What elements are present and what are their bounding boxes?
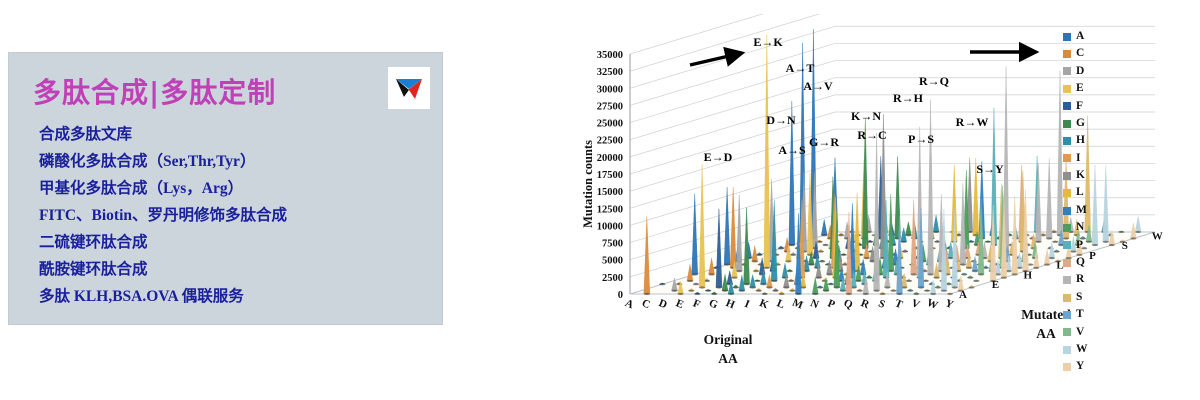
bar-base-marker (790, 254, 796, 256)
legend-item-I[interactable]: I (1063, 150, 1111, 167)
bar-base-marker (1046, 237, 1052, 239)
chart-annotations: E→KA→TA→VR→QR→HD→NK→NR→WG→RR→CP→SA→SE→DS… (704, 35, 1004, 176)
y-tick-label: 32500 (597, 67, 623, 78)
bar-base-marker (789, 290, 795, 292)
x-tick-label: S (877, 298, 887, 311)
bar-base-marker (766, 286, 772, 288)
bar-base-marker (1135, 231, 1141, 233)
bar-base-marker (941, 290, 947, 292)
z-tick-label: H (1023, 269, 1032, 281)
bar-base-marker (911, 273, 917, 275)
bar-base-marker (754, 280, 760, 282)
bar-base-marker (716, 286, 722, 288)
legend-label: F (1076, 101, 1083, 113)
annotation-label: R→C (857, 128, 886, 142)
legend-label: H (1076, 135, 1085, 147)
x-tick-label: N (808, 297, 820, 311)
company-logo (388, 67, 430, 109)
bar-base-marker (826, 273, 832, 275)
promo-panel: 多肽合成|多肽定制 合成多肽文库 磷酸化多肽合成（Ser,Thr,Tyr） 甲基… (8, 52, 443, 325)
chart-trend-arrows (690, 52, 1036, 65)
legend-swatch-icon (1063, 189, 1071, 197)
bar-base-marker (773, 290, 779, 292)
bar-base-marker (753, 270, 759, 272)
legend-item-L[interactable]: L (1063, 185, 1111, 202)
bar-base-marker (1035, 241, 1041, 243)
annotation-label: A→S (778, 143, 806, 157)
legend-swatch-icon (1063, 172, 1071, 180)
bar-base-marker (918, 286, 924, 288)
list-item: 磷酸化多肽合成（Ser,Thr,Tyr） (39, 148, 439, 175)
bar-base-marker (699, 286, 705, 288)
legend-swatch-icon (1063, 328, 1071, 336)
z-tick-label: A (959, 289, 967, 301)
bar-base-marker (778, 247, 784, 249)
y-axis-title-group: Mutation counts (581, 140, 595, 228)
bar-base-marker (1130, 237, 1136, 239)
annotation-label: R→W (956, 115, 989, 129)
bar-base-marker (901, 241, 907, 243)
bar-base-marker (692, 273, 698, 275)
legend-swatch-icon (1063, 137, 1071, 145)
bar-base-marker (973, 280, 979, 282)
promo-title: 多肽合成|多肽定制 (33, 71, 276, 111)
bar-base-marker (928, 273, 934, 275)
legend-label: I (1076, 153, 1080, 165)
legend-swatch-icon (1063, 241, 1071, 249)
bar-base-marker (1044, 264, 1050, 266)
legend-label: G (1076, 118, 1085, 130)
bar-base-marker (866, 277, 872, 279)
bar-column (933, 215, 939, 232)
x-tick-label: Q (842, 297, 855, 311)
bar-base-marker (783, 286, 789, 288)
annotation-label: R→H (893, 91, 924, 105)
legend-label: V (1076, 327, 1084, 339)
page-root: 多肽合成|多肽定制 合成多肽文库 磷酸化多肽合成（Ser,Thr,Tyr） 甲基… (0, 0, 1200, 400)
x-tick-label: C (640, 297, 652, 311)
list-item: FITC、Biotin、罗丹明修饰多肽合成 (39, 202, 439, 229)
bar-base-marker (821, 234, 827, 236)
legend-item-F[interactable]: F (1063, 98, 1111, 115)
y-tick-label: 5000 (602, 256, 623, 267)
annotation-label: A→V (803, 79, 833, 93)
bar-base-marker (846, 293, 852, 295)
bar-base-marker (644, 293, 650, 295)
y-axis-title: Mutation counts (581, 140, 595, 228)
bar-base-marker (736, 270, 742, 272)
annotation-label: E→D (704, 150, 733, 164)
legend-label: S (1076, 292, 1082, 304)
legend-swatch-icon (1063, 67, 1071, 75)
x-tick-label: E (674, 297, 685, 311)
bar-base-marker (818, 250, 824, 252)
trend-arrow-left (690, 53, 742, 65)
bar-base-marker (952, 286, 958, 288)
legend-label: D (1076, 66, 1084, 78)
legend-swatch-icon (1063, 224, 1071, 232)
logo-chevron-icon (391, 70, 427, 106)
x-tick-label: L (775, 297, 786, 311)
x-tick-label: K (758, 297, 771, 311)
z-tick-label: S (1122, 240, 1128, 252)
bar-base-marker (978, 273, 984, 275)
bar-base-marker (828, 283, 834, 285)
bar-base-marker (739, 290, 745, 292)
legend-item-S[interactable]: S (1063, 289, 1111, 306)
bar-base-marker (902, 250, 908, 252)
bar-base-marker (924, 290, 930, 292)
bar-column (752, 246, 758, 262)
annotation-label: E→K (753, 35, 783, 49)
bar-base-marker (817, 286, 823, 288)
legend-item-K[interactable]: K (1063, 167, 1111, 184)
y-tick-label: 0 (618, 290, 623, 301)
legend-label: E (1076, 83, 1084, 95)
x-tick-label: V (910, 297, 922, 311)
bar-base-marker (823, 244, 829, 246)
bar-base-marker (728, 293, 734, 295)
legend-label: K (1076, 170, 1085, 182)
bar-base-marker (838, 234, 844, 236)
annotation-label: D→N (766, 113, 796, 127)
legend-swatch-icon (1063, 363, 1071, 371)
legend-label: R (1076, 274, 1084, 286)
bar-base-marker (880, 293, 886, 295)
y-tick-label: 17500 (597, 170, 623, 181)
legend-label: C (1076, 48, 1084, 60)
bar-base-marker (659, 283, 665, 285)
legend-swatch-icon (1063, 311, 1071, 319)
bar-base-marker (961, 273, 967, 275)
bar-base-marker (744, 283, 750, 285)
list-item: 二硫键环肽合成 (39, 229, 439, 256)
x-axis-title-line2: AA (718, 351, 738, 366)
legend-swatch-icon (1063, 33, 1071, 41)
bar-base-marker (935, 286, 941, 288)
x-tick-label: P (826, 297, 837, 311)
legend-label: Y (1076, 361, 1084, 373)
bar-column (716, 209, 722, 288)
legend-swatch-icon (1063, 102, 1071, 110)
bar-base-marker (671, 290, 677, 292)
bar-base-marker (934, 277, 940, 279)
bar-base-marker (823, 290, 829, 292)
bar-base-marker (841, 254, 847, 256)
y-tick-label: 35000 (597, 50, 623, 61)
legend-swatch-icon (1063, 50, 1071, 58)
bar-column (905, 222, 911, 235)
y-tick-label: 10000 (597, 221, 623, 232)
legend-swatch-icon (1063, 259, 1071, 267)
bar-base-marker (731, 277, 737, 279)
bar-base-marker (896, 293, 902, 295)
bar-base-marker (711, 293, 717, 295)
x-tick-label: W (925, 297, 940, 312)
bar-base-marker (834, 286, 840, 288)
x-axis-title-line1: Original (704, 332, 753, 347)
x-tick-label: R (859, 297, 872, 311)
bar-column (736, 195, 742, 271)
bar-base-marker (756, 254, 762, 256)
bar-base-marker (819, 260, 825, 262)
bar-column (699, 164, 705, 287)
bar-column (928, 100, 934, 275)
legend-label: M (1076, 205, 1087, 217)
bar-base-marker (808, 264, 814, 266)
x-tick-label: M (790, 297, 805, 312)
bar-column (1046, 158, 1052, 238)
bar-column (724, 187, 730, 264)
legend-item-R[interactable]: R (1063, 271, 1111, 288)
bar-base-marker (709, 273, 715, 275)
legend-item-H[interactable]: H (1063, 132, 1111, 149)
legend-swatch-icon (1063, 276, 1071, 284)
legend-item-Q[interactable]: Q (1063, 254, 1111, 271)
bar-base-marker (890, 290, 896, 292)
list-item: 多肽 KLH,BSA.OVA 偶联服务 (39, 283, 439, 310)
bar-base-marker (972, 270, 978, 272)
bar-base-marker (789, 244, 795, 246)
bar-base-marker (752, 260, 758, 262)
legend-swatch-icon (1063, 294, 1071, 302)
bar-base-marker (1033, 267, 1039, 269)
bar-base-marker (688, 290, 694, 292)
bar-base-marker (756, 290, 762, 292)
legend-item-G[interactable]: G (1063, 115, 1111, 132)
bar-base-marker (906, 280, 912, 282)
bar-base-marker (933, 231, 939, 233)
legend-item-T[interactable]: T (1063, 306, 1111, 323)
bar-base-marker (960, 264, 966, 266)
y-tick-label: 27500 (597, 101, 623, 112)
bar-base-marker (864, 257, 870, 259)
legend-item-V[interactable]: V (1063, 324, 1111, 341)
promo-service-list: 合成多肽文库 磷酸化多肽合成（Ser,Thr,Tyr） 甲基化多肽合成（Lys，… (39, 121, 439, 310)
bar-base-marker (884, 286, 890, 288)
list-item: 合成多肽文库 (39, 121, 439, 148)
legend-label: T (1076, 309, 1084, 321)
legend-label: Q (1076, 257, 1085, 269)
x-tick-label: I (743, 298, 751, 311)
x-tick-label: A (623, 297, 635, 311)
bar-base-marker (816, 277, 822, 279)
bar-column (821, 219, 827, 235)
bar-base-marker (771, 280, 777, 282)
bar-base-marker (722, 290, 728, 292)
bar-base-marker (1118, 231, 1124, 233)
bar-base-marker (787, 270, 793, 272)
legend-item-Y[interactable]: Y (1063, 358, 1111, 375)
bar-base-marker (694, 293, 700, 295)
y-tick-label: 22500 (597, 136, 623, 147)
annotation-label: S→Y (976, 162, 1004, 176)
legend-item-M[interactable]: M (1063, 202, 1111, 219)
x-tick-label: D (657, 297, 669, 311)
bar-base-marker (779, 293, 785, 295)
legend-label: L (1076, 187, 1084, 199)
bar-base-marker (913, 293, 919, 295)
legend-swatch-icon (1063, 85, 1071, 93)
legend-item-N[interactable]: N (1063, 219, 1111, 236)
bar-base-marker (947, 293, 953, 295)
x-axis-tick-labels: ACDEFGHIKLMNPQRSTVWY (623, 297, 955, 312)
legend-label: A (1076, 31, 1084, 43)
bar-base-marker (750, 286, 756, 288)
bar-base-marker (840, 290, 846, 292)
x-tick-label: G (707, 297, 720, 311)
bar-base-marker (857, 290, 863, 292)
bar-base-marker (812, 293, 818, 295)
legend-swatch-icon (1063, 346, 1071, 354)
legend-item-A[interactable]: A (1063, 28, 1111, 45)
bar-base-marker (705, 290, 711, 292)
x-tick-label: Y (943, 297, 955, 311)
x-tick-label: H (724, 297, 737, 311)
bar-base-marker (788, 280, 794, 282)
bar-base-marker (855, 280, 861, 282)
bar-base-marker (1054, 250, 1060, 252)
bar-base-marker (760, 283, 766, 285)
bar-base-marker (966, 267, 972, 269)
bar-base-marker (693, 283, 699, 285)
annotation-label: R→Q (919, 74, 949, 88)
bar-base-marker (905, 234, 911, 236)
bar-base-marker (724, 264, 730, 266)
y-axis-tick-labels: 0250050007500100001250015000175002000022… (597, 50, 623, 301)
z-axis-title-line2: AA (1036, 326, 1056, 341)
legend-label: P (1076, 240, 1083, 252)
bar-base-marker (967, 277, 973, 279)
bar-base-marker (733, 286, 739, 288)
annotation-label: P→S (908, 132, 934, 146)
axis-titles: OriginalAAMutatedAA (704, 307, 1072, 366)
y-tick-label: 25000 (597, 119, 623, 130)
y-tick-label: 7500 (602, 239, 623, 250)
y-tick-label: 15000 (597, 187, 623, 198)
list-item: 酰胺键环肽合成 (39, 256, 439, 283)
bar-base-marker (1049, 257, 1055, 259)
bar-base-marker (1012, 273, 1018, 275)
list-item: 甲基化多肽合成（Lys，Arg） (39, 175, 439, 202)
bar-base-marker (1052, 241, 1058, 243)
bar-column (764, 35, 770, 268)
bar-base-marker (687, 280, 693, 282)
legend-label: W (1076, 344, 1088, 356)
bar-base-marker (907, 290, 913, 292)
gridline-left-wall (630, 14, 835, 54)
legend-item-P[interactable]: P (1063, 237, 1111, 254)
y-tick-label: 2500 (602, 273, 623, 284)
z-tick-label: E (992, 279, 999, 291)
annotation-label: A→T (786, 61, 815, 75)
bar-column (1135, 216, 1141, 232)
bar-column (692, 194, 698, 275)
legend-label: N (1076, 222, 1084, 234)
bar-base-marker (762, 293, 768, 295)
legend-item-C[interactable]: C (1063, 45, 1111, 62)
y-tick-label: 30000 (597, 84, 623, 95)
annotation-label: K→N (851, 109, 881, 123)
z-tick-label: W (1152, 230, 1163, 242)
legend-swatch-icon (1063, 120, 1071, 128)
bar-base-marker (678, 293, 684, 295)
bar-base-marker (764, 267, 770, 269)
legend-item-E[interactable]: E (1063, 80, 1111, 97)
legend-item-W[interactable]: W (1063, 341, 1111, 358)
legend-swatch-icon (1063, 207, 1071, 215)
x-tick-label: T (893, 297, 905, 311)
y-tick-label: 20000 (597, 153, 623, 164)
bar-base-marker (795, 293, 801, 295)
x-tick-label: F (691, 297, 702, 311)
legend-item-D[interactable]: D (1063, 63, 1111, 80)
legend-swatch-icon (1063, 154, 1071, 162)
bar-base-marker (930, 293, 936, 295)
chart-legend: ACDEFGHIKLMNPQRSTVWY (1063, 28, 1111, 376)
bar-base-marker (863, 293, 869, 295)
annotation-label: G→R (809, 135, 839, 149)
bar-base-marker (785, 260, 791, 262)
bar-base-marker (969, 286, 975, 288)
bar-column (709, 258, 715, 274)
bar-base-marker (1001, 277, 1007, 279)
y-tick-label: 12500 (597, 204, 623, 215)
bar-base-marker (985, 241, 991, 243)
bar-base-marker (874, 290, 880, 292)
